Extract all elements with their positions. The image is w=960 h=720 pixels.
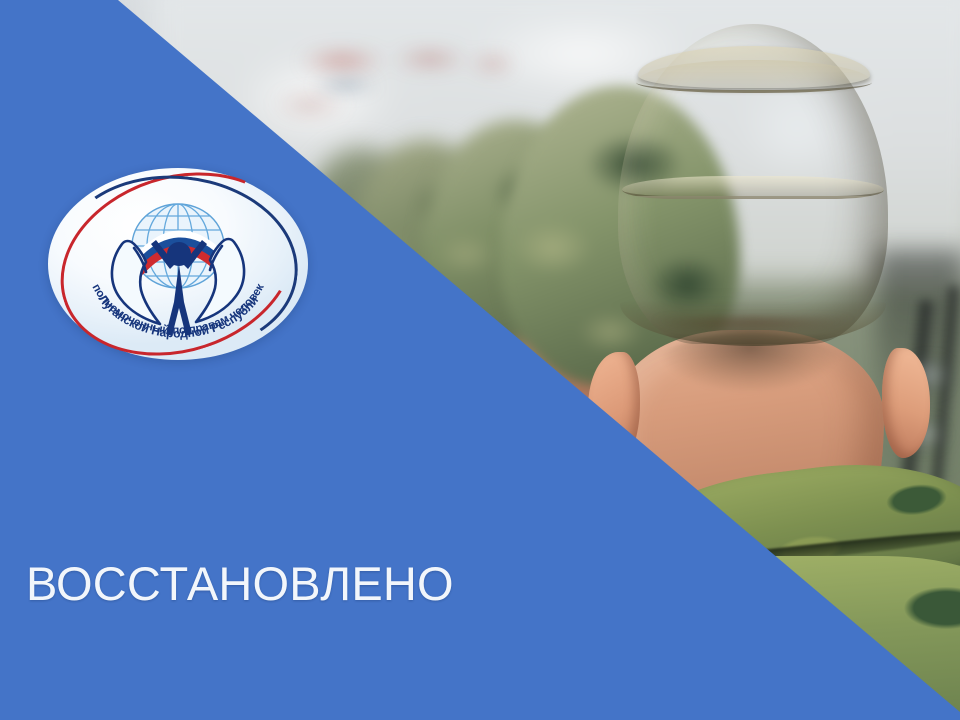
blurred-background-blue-shape <box>290 70 400 100</box>
cap-band <box>622 176 884 199</box>
ombudsman-emblem: Уполномоченный по правам человека в Луга… <box>48 168 308 360</box>
headline-text-block: ВОССТАНОВЛЕНО ПРАВО ВОЕННОСЛУЖАЩЕГО НА О… <box>26 444 806 720</box>
headline-line-1: ВОССТАНОВЛЕНО <box>26 556 806 612</box>
poster-canvas: Уполномоченный по правам человека в Луга… <box>0 0 960 720</box>
emblem-artwork: Уполномоченный по правам человека в Луга… <box>48 168 308 360</box>
